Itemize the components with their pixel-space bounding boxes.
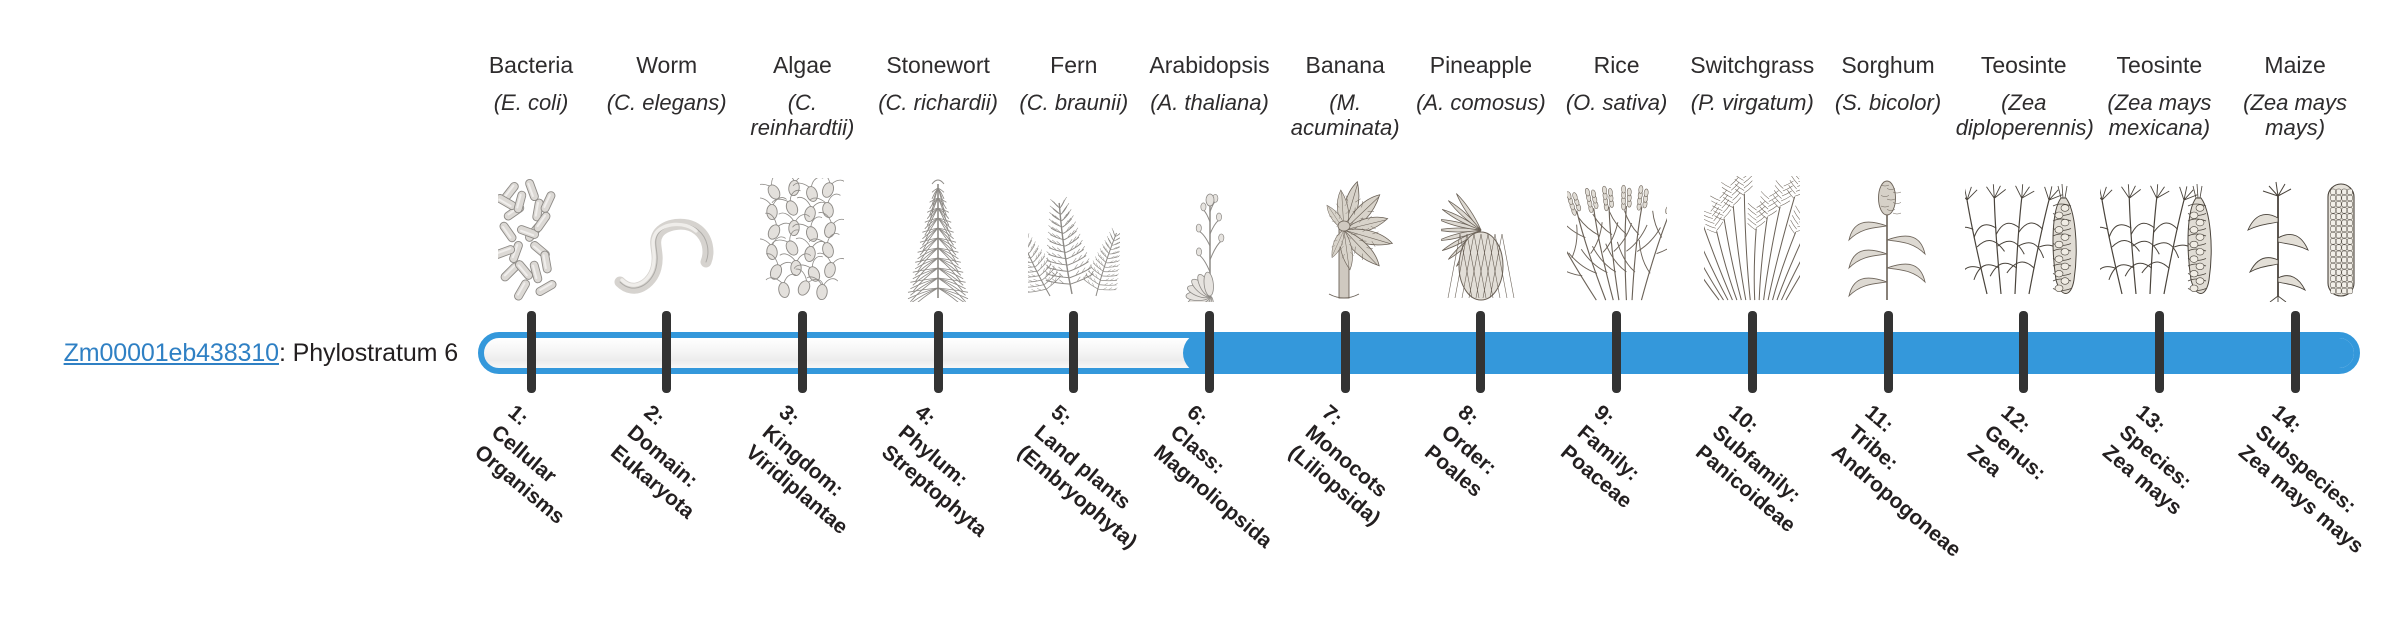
- organism-scientific-name: (O. sativa): [1549, 90, 1685, 115]
- organism-column-header: Pineapple(A. comosus): [1413, 52, 1549, 115]
- organism-common-name: Switchgrass: [1684, 52, 1820, 78]
- organism-common-name: Teosinte: [1956, 52, 2092, 78]
- switchgrass-icon: [1684, 166, 1820, 302]
- phylostratum-tick-9[interactable]: [1612, 311, 1621, 393]
- organism-column-header: Stonewort(C. richardii): [870, 52, 1006, 115]
- phylostratum-tick-13[interactable]: [2155, 311, 2164, 393]
- organism-column-header: Sorghum(S. bicolor): [1820, 52, 1956, 115]
- organism-scientific-name: (C. reinhardtii): [734, 90, 870, 140]
- organism-scientific-name: (A. comosus): [1413, 90, 1549, 115]
- phylostratum-tick-7[interactable]: [1341, 311, 1350, 393]
- organism-scientific-name: (C. richardii): [870, 90, 1006, 115]
- organism-scientific-name: (E. coli): [463, 90, 599, 115]
- fern-frond-icon: [1006, 166, 1142, 302]
- phylostratum-tick-12[interactable]: [2019, 311, 2028, 393]
- phylostratum-tick-10[interactable]: [1748, 311, 1757, 393]
- organism-column-header: Rice(O. sativa): [1549, 52, 1685, 115]
- organism-common-name: Pineapple: [1413, 52, 1549, 78]
- organism-scientific-name: (Zea mays mexicana): [2091, 90, 2227, 140]
- gene-id-link[interactable]: Zm00001eb438310: [64, 339, 279, 368]
- phylostratum-tick-14[interactable]: [2291, 311, 2300, 393]
- organism-common-name: Stonewort: [870, 52, 1006, 78]
- organism-common-name: Rice: [1549, 52, 1685, 78]
- organism-common-name: Arabidopsis: [1142, 52, 1278, 78]
- organism-column-header: Fern(C. braunii): [1006, 52, 1142, 115]
- sorghum-plant-icon: [1820, 166, 1956, 302]
- phylostratum-tick-4[interactable]: [934, 311, 943, 393]
- organism-scientific-name: (A. thaliana): [1142, 90, 1278, 115]
- organism-column-header: Algae(C. reinhardtii): [734, 52, 870, 140]
- maize-plant-and-cob-icon: [2227, 166, 2363, 302]
- organism-column-header: Banana(M. acuminata): [1277, 52, 1413, 140]
- organism-column-header: Switchgrass(P. virgatum): [1684, 52, 1820, 115]
- phylostratum-track-fill: [1183, 332, 2361, 374]
- teosinte-plant-and-ear-icon: [2091, 166, 2227, 302]
- organism-column-header: Teosinte(Zea mays mexicana): [2091, 52, 2227, 140]
- organism-scientific-name: (C. braunii): [1006, 90, 1142, 115]
- pineapple-icon: [1413, 166, 1549, 302]
- organism-common-name: Sorghum: [1820, 52, 1956, 78]
- organism-column-header: Teosinte(Zea diploperennis): [1956, 52, 2092, 140]
- organism-common-name: Worm: [599, 52, 735, 78]
- phylostratum-tick-11[interactable]: [1884, 311, 1893, 393]
- arabidopsis-rosette-icon: [1142, 166, 1278, 302]
- organism-column-header: Bacteria(E. coli): [463, 52, 599, 115]
- organism-scientific-name: (M. acuminata): [1277, 90, 1413, 140]
- nematode-worm-icon: [599, 166, 735, 302]
- organism-scientific-name: (C. elegans): [599, 90, 735, 115]
- organism-column-header: Maize(Zea mays mays): [2227, 52, 2363, 140]
- organism-scientific-name: (Zea mays mays): [2227, 90, 2363, 140]
- phylostratum-tick-1[interactable]: [527, 311, 536, 393]
- organism-scientific-name: (Zea diploperennis): [1956, 90, 2092, 140]
- organism-common-name: Algae: [734, 52, 870, 78]
- gene-phylostratum-suffix: : Phylostratum 6: [279, 339, 458, 368]
- teosinte-plant-and-ear-icon: [1956, 166, 2092, 302]
- organism-common-name: Teosinte: [2091, 52, 2227, 78]
- banana-plant-icon: [1277, 166, 1413, 302]
- organism-column-header: Arabidopsis(A. thaliana): [1142, 52, 1278, 115]
- gene-phylostratum-label: Zm00001eb438310: Phylostratum 6: [38, 333, 458, 373]
- organism-scientific-name: (P. virgatum): [1684, 90, 1820, 115]
- stonewort-charophyte-icon: [870, 166, 1006, 302]
- phylostratum-tick-6[interactable]: [1205, 311, 1214, 393]
- phylostratum-tick-3[interactable]: [798, 311, 807, 393]
- phylostratum-tick-5[interactable]: [1069, 311, 1078, 393]
- phylostratum-tick-2[interactable]: [662, 311, 671, 393]
- bacteria-rods-icon: [463, 166, 599, 302]
- rice-plant-icon: [1549, 166, 1685, 302]
- organism-common-name: Fern: [1006, 52, 1142, 78]
- phylostratum-figure: Zm00001eb438310: Phylostratum 6 Bacteria…: [0, 0, 2400, 580]
- organism-column-header: Worm(C. elegans): [599, 52, 735, 115]
- phylostratum-track[interactable]: [478, 332, 2360, 374]
- organism-common-name: Maize: [2227, 52, 2363, 78]
- organism-common-name: Banana: [1277, 52, 1413, 78]
- organism-scientific-name: (S. bicolor): [1820, 90, 1956, 115]
- phylostratum-tick-8[interactable]: [1476, 311, 1485, 393]
- green-algae-cells-icon: [734, 166, 870, 302]
- organism-common-name: Bacteria: [463, 52, 599, 78]
